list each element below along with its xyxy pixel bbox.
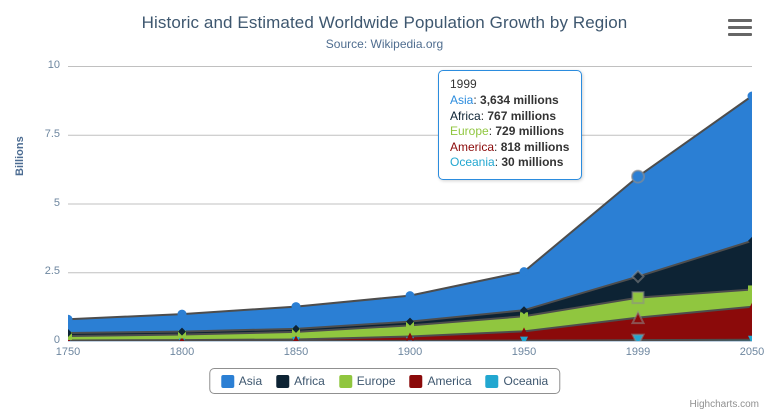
credits-link[interactable]: Highcharts.com (690, 399, 759, 410)
legend-label: America (428, 374, 472, 388)
legend-label: Europe (357, 374, 396, 388)
tooltip: 1999 Asia: 3,634 millionsAfrica: 767 mil… (438, 70, 582, 180)
y-tick-label: 5 (14, 198, 60, 209)
tooltip-row: Europe: 729 millions (450, 124, 569, 140)
tooltip-separator: : (473, 93, 480, 107)
chart-title: Historic and Estimated Worldwide Populat… (0, 13, 769, 33)
hamburger-menu-icon[interactable] (728, 17, 752, 39)
marker-asia[interactable] (292, 302, 301, 311)
x-tick-label[interactable]: 1800 (152, 346, 212, 358)
tooltip-series-value: 3,634 millions (480, 93, 559, 107)
x-tick-label[interactable]: 1850 (266, 346, 326, 358)
x-axis-line (68, 341, 752, 342)
chart-subtitle: Source: Wikipedia.org (0, 37, 769, 51)
tooltip-series-name: Europe (450, 124, 489, 138)
legend-item-europe[interactable]: Europe (339, 374, 396, 388)
tooltip-rows: Asia: 3,634 millionsAfrica: 767 millions… (450, 93, 569, 171)
tooltip-row: Oceania: 30 millions (450, 155, 569, 171)
legend-item-africa[interactable]: Africa (276, 374, 325, 388)
y-axis-title: Billions (14, 136, 26, 176)
series-areas (68, 96, 752, 341)
tooltip-series-name: Asia (450, 93, 473, 107)
marker-asia[interactable] (178, 310, 187, 319)
x-tick-label[interactable]: 1750 (38, 346, 98, 358)
legend: AsiaAfricaEuropeAmericaOceania (209, 368, 560, 394)
y-tick-label: 10 (14, 60, 60, 71)
tooltip-series-value: 767 millions (487, 109, 556, 123)
legend-item-america[interactable]: America (410, 374, 472, 388)
y-tick-label: 7.5 (14, 129, 60, 140)
plot-area (68, 66, 752, 341)
tooltip-series-value: 30 millions (501, 155, 563, 169)
hamburger-bar (728, 33, 752, 36)
legend-label: Africa (294, 374, 325, 388)
marker-europe[interactable] (748, 285, 752, 293)
tooltip-row: America: 818 millions (450, 140, 569, 156)
legend-swatch (276, 375, 289, 388)
tooltip-row: Asia: 3,634 millions (450, 93, 569, 109)
marker-asia[interactable] (520, 267, 529, 276)
marker-europe[interactable] (633, 292, 644, 303)
chart-svg (68, 66, 752, 341)
hamburger-bar (728, 26, 752, 29)
tooltip-header: 1999 (450, 77, 569, 91)
highcharts-container: Historic and Estimated Worldwide Populat… (0, 0, 769, 416)
legend-item-asia[interactable]: Asia (221, 374, 262, 388)
tooltip-row: Africa: 767 millions (450, 109, 569, 125)
marker-asia[interactable] (632, 171, 644, 183)
x-tick-label[interactable]: 1999 (608, 346, 668, 358)
marker-asia[interactable] (406, 291, 415, 300)
y-tick-label: 2.5 (14, 266, 60, 277)
legend-swatch (486, 375, 499, 388)
legend-swatch (410, 375, 423, 388)
x-tick-label[interactable]: 1950 (494, 346, 554, 358)
tooltip-series-value: 729 millions (495, 124, 564, 138)
legend-label: Oceania (504, 374, 549, 388)
tooltip-series-name: Africa (450, 109, 481, 123)
tooltip-separator: : (494, 140, 501, 154)
legend-swatch (221, 375, 234, 388)
legend-item-oceania[interactable]: Oceania (486, 374, 549, 388)
legend-label: Asia (239, 374, 262, 388)
tooltip-series-name: America (450, 140, 494, 154)
legend-swatch (339, 375, 352, 388)
hamburger-bar (728, 19, 752, 22)
x-tick-label[interactable]: 2050 (722, 346, 769, 358)
tooltip-series-name: Oceania (450, 155, 495, 169)
x-tick-label[interactable]: 1900 (380, 346, 440, 358)
tooltip-series-value: 818 millions (501, 140, 570, 154)
y-tick-label: 0 (14, 335, 60, 346)
